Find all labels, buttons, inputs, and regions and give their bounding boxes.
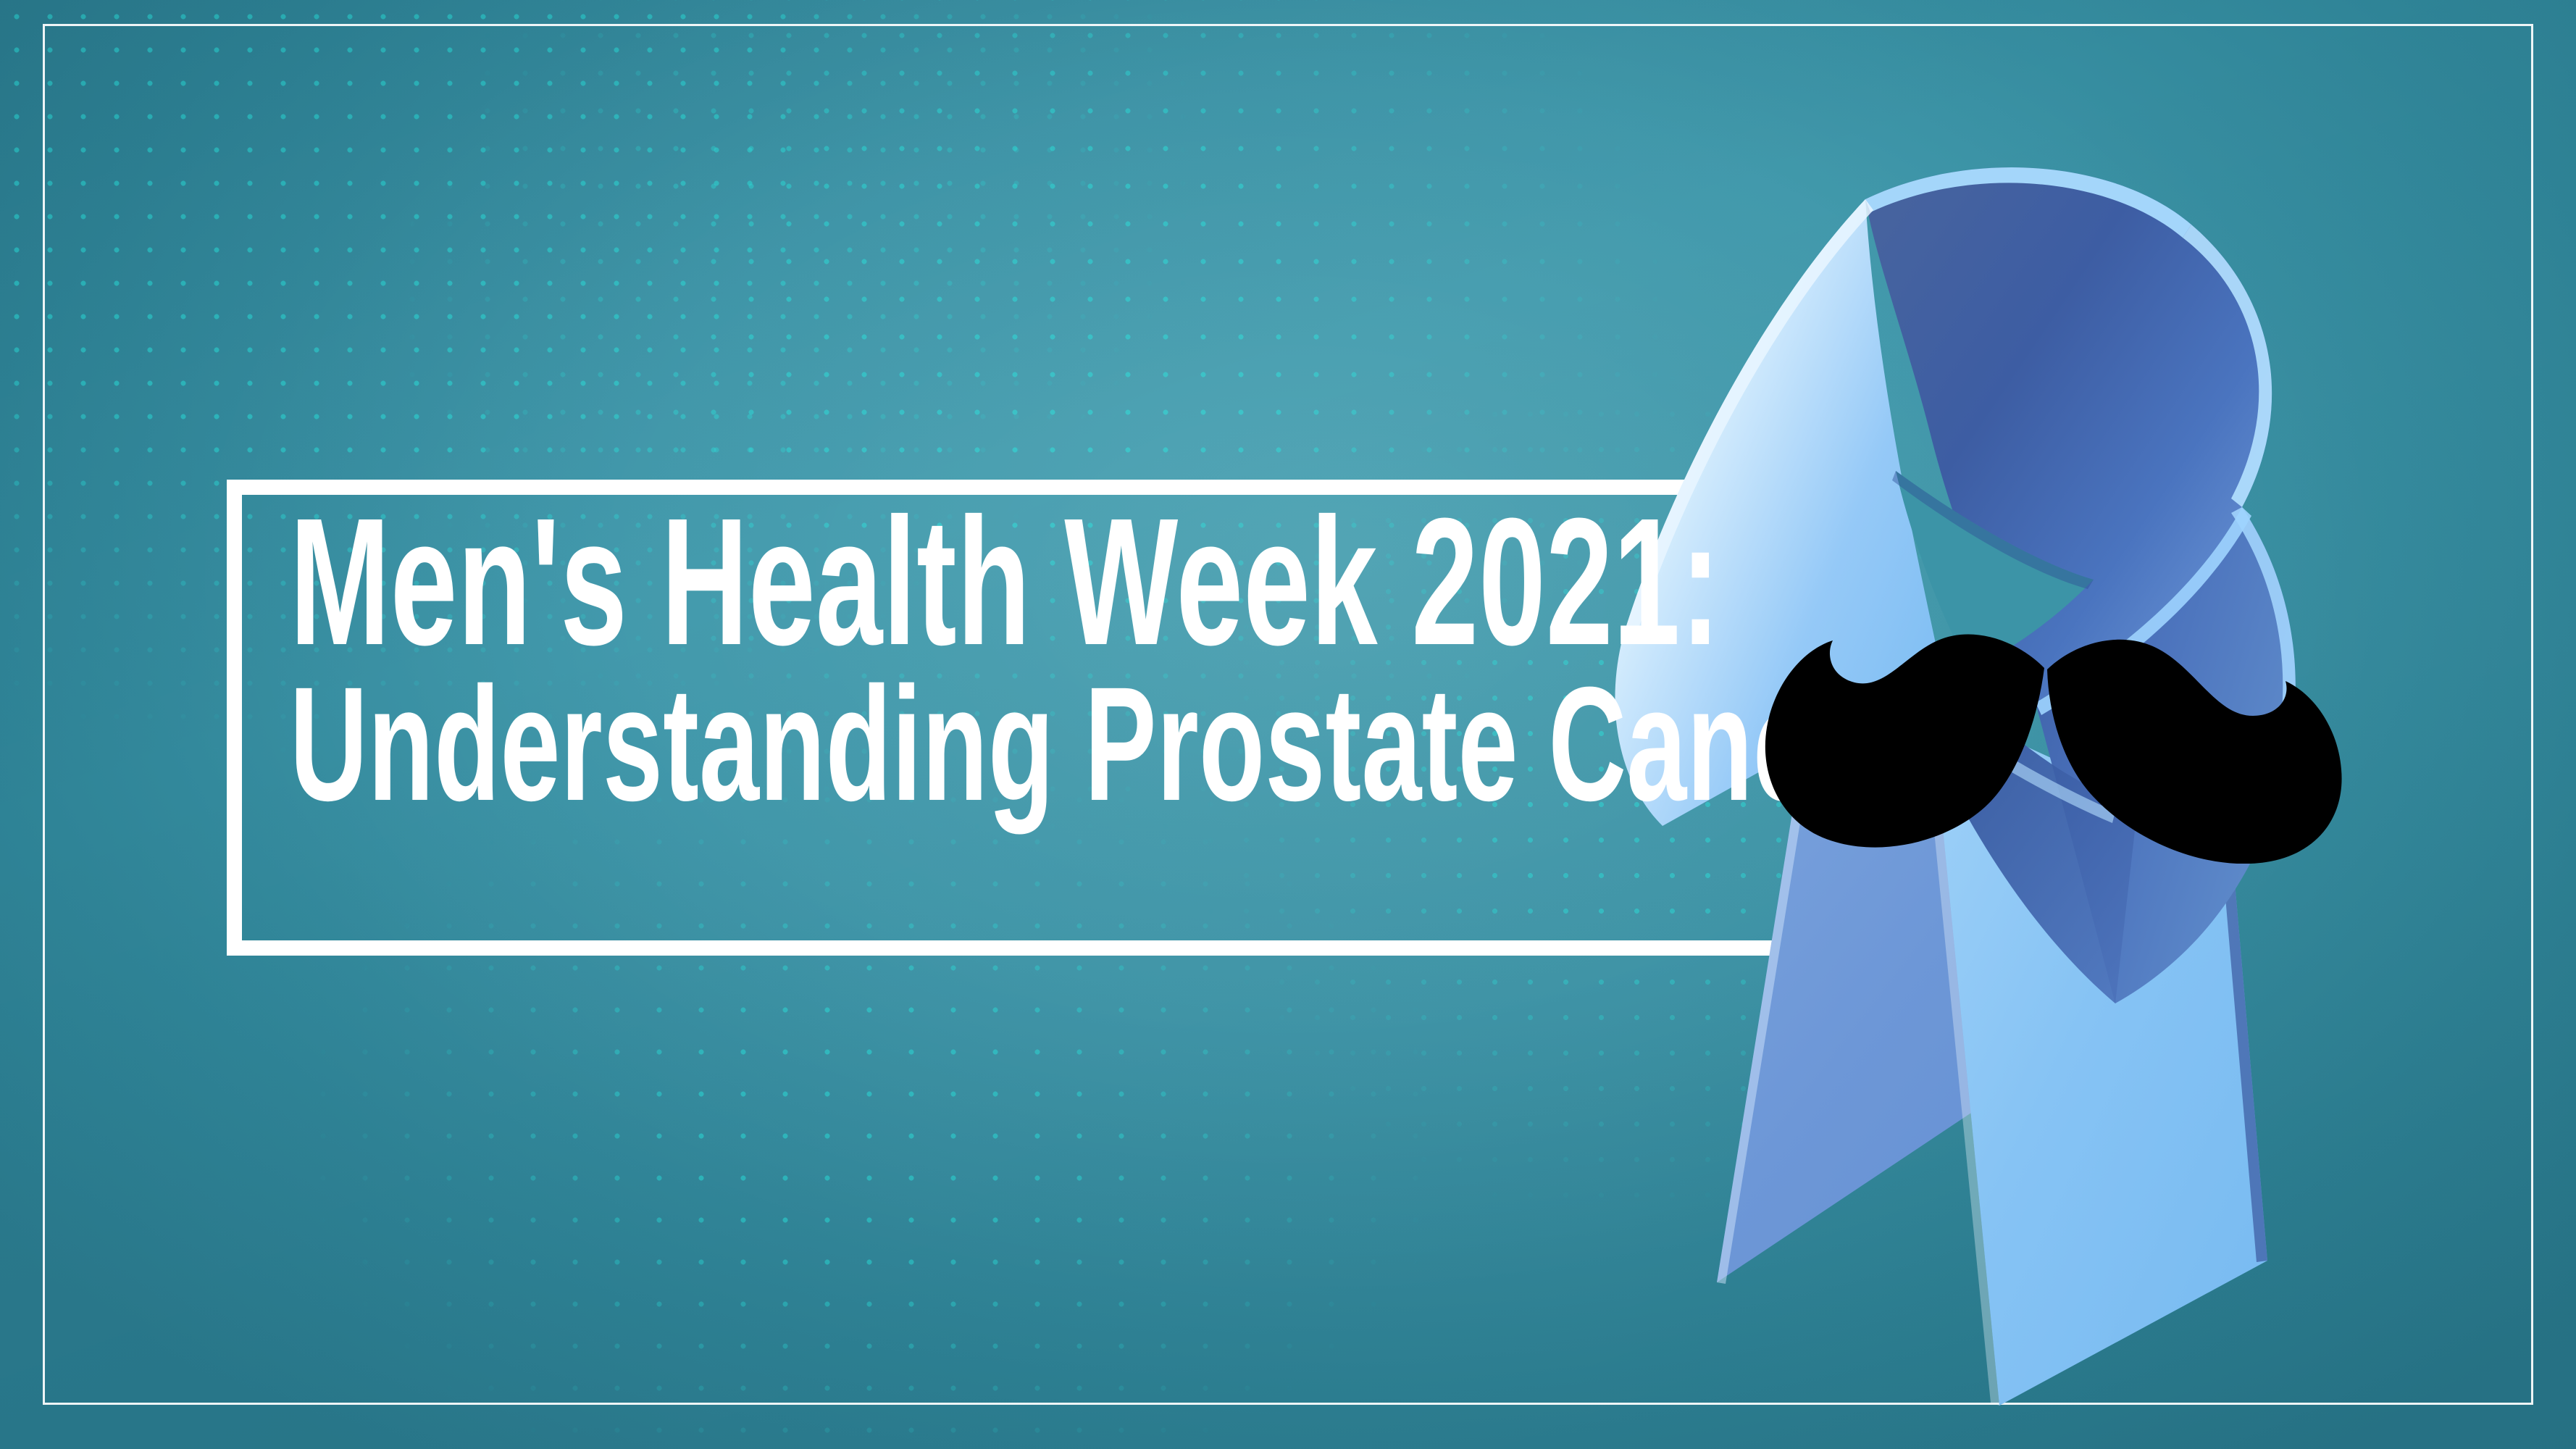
page-title: Men's Health Week 2021: Understanding Pr… [290, 500, 1956, 820]
poster-canvas: Men's Health Week 2021: Understanding Pr… [0, 0, 2576, 1449]
title-line-2: Understanding Prostate Cancer [290, 668, 1398, 820]
title-line-1: Men's Health Week 2021: [290, 500, 1398, 664]
